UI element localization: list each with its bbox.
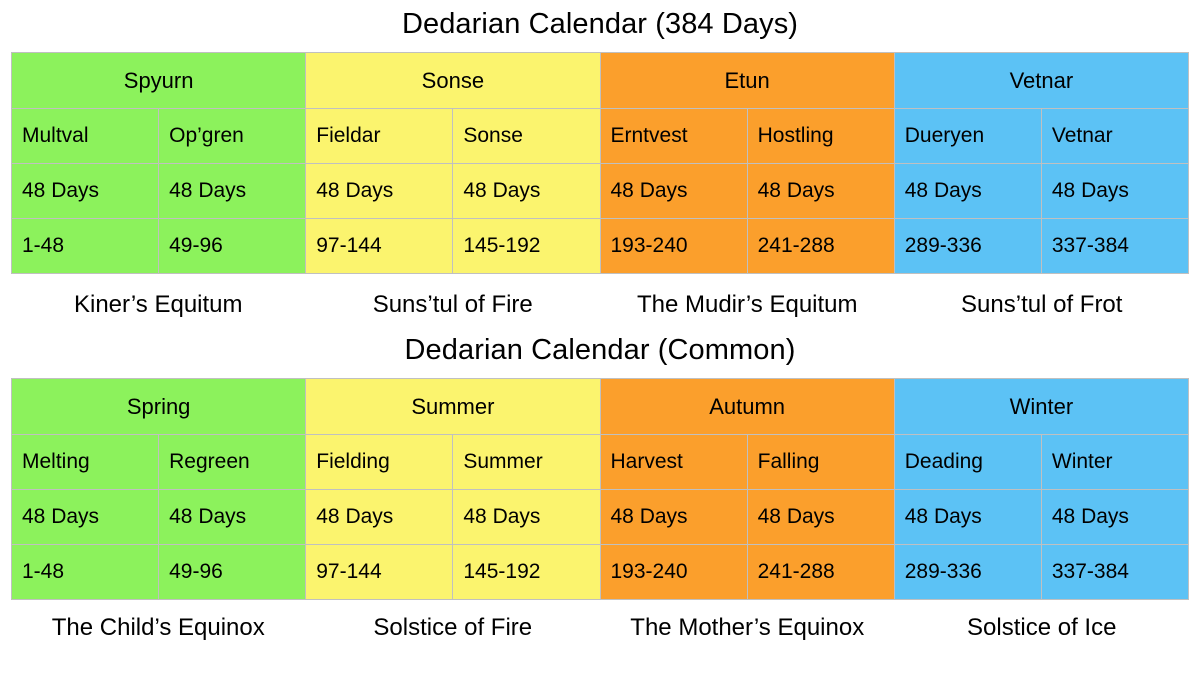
month-dayrange-cell: 337-384 bbox=[1041, 545, 1188, 600]
month-length-cell: 48 Days bbox=[12, 164, 159, 219]
month-name-cell: Fielding bbox=[306, 435, 453, 490]
month-name-cell: Erntvest bbox=[600, 109, 747, 164]
month-name-cell: Multval bbox=[12, 109, 159, 164]
month-dayrange-cell: 241-288 bbox=[747, 219, 894, 274]
season-header-cell: Summer bbox=[306, 379, 600, 435]
month-dayrange-cell: 289-336 bbox=[894, 545, 1041, 600]
table-row: 1-4849-9697-144145-192193-240241-288289-… bbox=[12, 545, 1189, 600]
season-header-row: SpringSummerAutumnWinter bbox=[12, 379, 1189, 435]
month-length-cell: 48 Days bbox=[12, 490, 159, 545]
table-row: MultvalOp’grenFieldarSonseErntvestHostli… bbox=[12, 109, 1189, 164]
calendar-block: Dedarian Calendar (384 Days)SpyurnSonseE… bbox=[0, 0, 1200, 323]
month-dayrange-cell: 193-240 bbox=[600, 545, 747, 600]
calendar-table: SpringSummerAutumnWinterMeltingRegreenFi… bbox=[11, 378, 1189, 600]
season-caption: The Mother’s Equinox bbox=[600, 616, 895, 640]
calendar-title: Dedarian Calendar (384 Days) bbox=[0, 0, 1200, 52]
season-header-cell: Spring bbox=[12, 379, 306, 435]
calendar-page: Dedarian Calendar (384 Days)SpyurnSonseE… bbox=[0, 0, 1200, 680]
month-length-cell: 48 Days bbox=[306, 490, 453, 545]
month-length-cell: 48 Days bbox=[453, 490, 600, 545]
month-dayrange-cell: 145-192 bbox=[453, 219, 600, 274]
season-header-cell: Vetnar bbox=[894, 53, 1188, 109]
season-caption: The Child’s Equinox bbox=[11, 616, 306, 640]
month-dayrange-cell: 145-192 bbox=[453, 545, 600, 600]
month-name-cell: Dueryen bbox=[894, 109, 1041, 164]
table-row: 1-4849-9697-144145-192193-240241-288289-… bbox=[12, 219, 1189, 274]
season-header-cell: Sonse bbox=[306, 53, 600, 109]
month-dayrange-cell: 241-288 bbox=[747, 545, 894, 600]
season-caption: Kiner’s Equitum bbox=[11, 293, 306, 317]
table-row: 48 Days48 Days48 Days48 Days48 Days48 Da… bbox=[12, 490, 1189, 545]
season-caption: Suns’tul of Frot bbox=[895, 293, 1190, 317]
month-name-cell: Winter bbox=[1041, 435, 1188, 490]
month-name-cell: Deading bbox=[894, 435, 1041, 490]
month-length-cell: 48 Days bbox=[747, 490, 894, 545]
season-caption: Suns’tul of Fire bbox=[306, 293, 601, 317]
month-dayrange-cell: 337-384 bbox=[1041, 219, 1188, 274]
calendar-title: Dedarian Calendar (Common) bbox=[0, 323, 1200, 378]
table-row: 48 Days48 Days48 Days48 Days48 Days48 Da… bbox=[12, 164, 1189, 219]
month-name-cell: Hostling bbox=[747, 109, 894, 164]
month-length-cell: 48 Days bbox=[600, 490, 747, 545]
month-length-cell: 48 Days bbox=[894, 490, 1041, 545]
month-name-cell: Vetnar bbox=[1041, 109, 1188, 164]
month-name-cell: Regreen bbox=[159, 435, 306, 490]
month-name-cell: Falling bbox=[747, 435, 894, 490]
month-length-cell: 48 Days bbox=[306, 164, 453, 219]
month-length-cell: 48 Days bbox=[747, 164, 894, 219]
month-name-cell: Harvest bbox=[600, 435, 747, 490]
season-caption: Solstice of Fire bbox=[306, 616, 601, 640]
month-length-cell: 48 Days bbox=[159, 490, 306, 545]
month-length-cell: 48 Days bbox=[894, 164, 1041, 219]
month-name-cell: Op’gren bbox=[159, 109, 306, 164]
month-dayrange-cell: 1-48 bbox=[12, 545, 159, 600]
calendars-root: Dedarian Calendar (384 Days)SpyurnSonseE… bbox=[0, 0, 1200, 640]
season-header-row: SpyurnSonseEtunVetnar bbox=[12, 53, 1189, 109]
season-captions: Kiner’s EquitumSuns’tul of FireThe Mudir… bbox=[11, 274, 1189, 323]
month-length-cell: 48 Days bbox=[1041, 490, 1188, 545]
season-header-cell: Winter bbox=[894, 379, 1188, 435]
month-dayrange-cell: 97-144 bbox=[306, 545, 453, 600]
calendar-block: Dedarian Calendar (Common)SpringSummerAu… bbox=[0, 323, 1200, 640]
month-dayrange-cell: 49-96 bbox=[159, 545, 306, 600]
season-header-cell: Etun bbox=[600, 53, 894, 109]
season-caption: Solstice of Ice bbox=[895, 616, 1190, 640]
month-dayrange-cell: 49-96 bbox=[159, 219, 306, 274]
month-name-cell: Fieldar bbox=[306, 109, 453, 164]
month-dayrange-cell: 97-144 bbox=[306, 219, 453, 274]
month-length-cell: 48 Days bbox=[453, 164, 600, 219]
month-length-cell: 48 Days bbox=[1041, 164, 1188, 219]
month-length-cell: 48 Days bbox=[600, 164, 747, 219]
month-dayrange-cell: 1-48 bbox=[12, 219, 159, 274]
month-dayrange-cell: 193-240 bbox=[600, 219, 747, 274]
season-caption: The Mudir’s Equitum bbox=[600, 293, 895, 317]
season-header-cell: Spyurn bbox=[12, 53, 306, 109]
month-dayrange-cell: 289-336 bbox=[894, 219, 1041, 274]
month-name-cell: Sonse bbox=[453, 109, 600, 164]
calendar-table: SpyurnSonseEtunVetnarMultvalOp’grenField… bbox=[11, 52, 1189, 274]
table-row: MeltingRegreenFieldingSummerHarvestFalli… bbox=[12, 435, 1189, 490]
season-header-cell: Autumn bbox=[600, 379, 894, 435]
month-name-cell: Melting bbox=[12, 435, 159, 490]
month-length-cell: 48 Days bbox=[159, 164, 306, 219]
season-captions: The Child’s EquinoxSolstice of FireThe M… bbox=[11, 600, 1189, 640]
month-name-cell: Summer bbox=[453, 435, 600, 490]
